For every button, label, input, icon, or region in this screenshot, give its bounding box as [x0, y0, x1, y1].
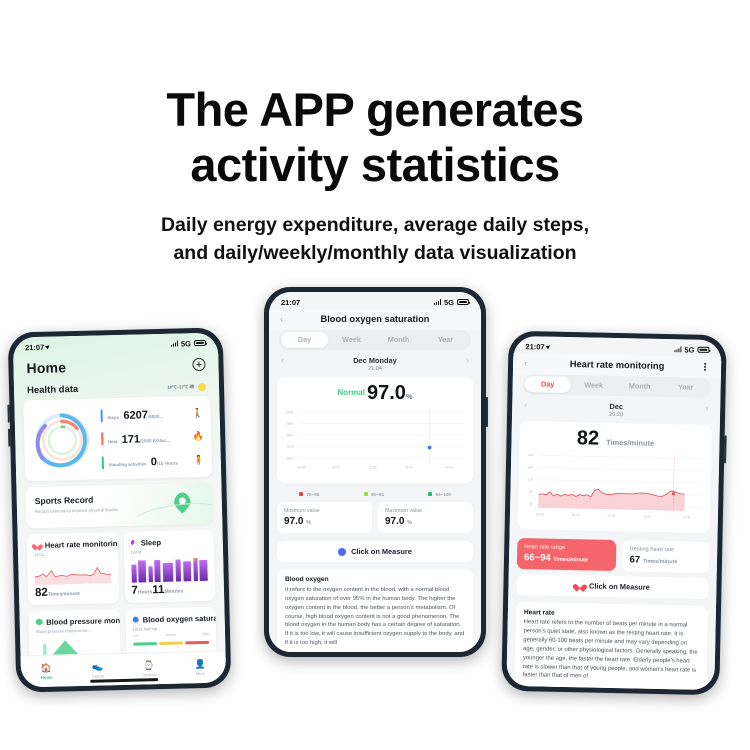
shoe-icon: 👟 [72, 661, 123, 672]
next-day-icon[interactable]: › [466, 356, 469, 365]
metric-value: 171/2000 KGlac... [122, 432, 171, 445]
card-value: 97.0 % [385, 516, 466, 527]
metric-label: Steps [107, 415, 119, 420]
card-label: Resting heart rate [630, 546, 703, 554]
svg-text:12:00: 12:00 [607, 513, 615, 517]
svg-text:200: 200 [528, 453, 534, 457]
svg-text:120: 120 [528, 477, 534, 481]
status-time: 21:07 [25, 342, 44, 351]
metric-accent-bar [101, 409, 103, 422]
maximum-value-card: Maximum value 97.0 % [378, 502, 473, 534]
card-value: 82Times/minute [35, 585, 112, 599]
phone-mid-blood-oxygen: 21:07 5G ‹ Blood oxygen saturation Day W… [264, 287, 486, 657]
spo2-unit: % [406, 392, 413, 401]
tab-month[interactable]: Month [616, 378, 662, 395]
headline-line-1: The APP generates [166, 83, 583, 136]
chevron-left-icon[interactable]: ‹ [280, 314, 290, 324]
battery-icon [697, 347, 709, 353]
svg-text:06:00: 06:00 [572, 513, 580, 517]
legend-item: 70~90 [299, 492, 319, 497]
svg-text:98%: 98% [287, 433, 294, 437]
card-title: Blood pressure monitoring [46, 615, 120, 626]
health-summary-card[interactable]: Steps 6207/6000... 🚶 Heat 171/2000 KGlac… [23, 396, 212, 482]
sun-icon [198, 382, 206, 390]
kebab-menu-icon[interactable] [700, 363, 710, 371]
home-title: Home [26, 359, 66, 376]
card-subtitle: Blood pressure measureme... [36, 627, 113, 634]
tab-mine[interactable]: 👤 Mine [174, 659, 226, 677]
sleep-bar-chart [131, 556, 208, 582]
sports-record-card[interactable]: Sports Record Record exercise to improve… [25, 483, 213, 528]
card-value: 97.0 % [284, 516, 365, 527]
moon-icon [130, 539, 137, 546]
circle-icon [36, 619, 43, 626]
svg-text:99%: 99% [287, 422, 294, 426]
stand-icon: 🧍 [193, 454, 205, 465]
tab-devices[interactable]: ⌚ Devices [123, 660, 175, 678]
metric-value: 0/10 Hours [151, 456, 178, 469]
heart-icon [34, 542, 41, 549]
metric-value: 6207/6000... [123, 409, 163, 422]
heart-rate-chart: 200 160 120 80 40 00:00 06:00 12:00 18:0… [525, 448, 704, 522]
heart-icon [575, 581, 584, 589]
subtitle-line-1: Daily energy expenditure, average daily … [0, 211, 750, 239]
next-day-icon[interactable]: › [705, 404, 708, 413]
metrics-list: Steps 6207/6000... 🚶 Heat 171/2000 KGlac… [100, 404, 205, 471]
info-body: Heart rate refers to the number of beats… [522, 618, 699, 684]
svg-text:100%: 100% [285, 410, 293, 414]
circle-icon [132, 616, 139, 623]
signal-icon [434, 299, 441, 305]
tab-label: Mine [175, 670, 226, 676]
network-label: 5G [444, 298, 454, 307]
measure-icon [338, 548, 346, 556]
prev-day-icon[interactable]: ‹ [281, 356, 284, 365]
card-title: Blood oxygen saturation [143, 613, 217, 624]
walk-icon: 🚶 [192, 407, 204, 418]
spo2-chart-panel: Normal97.0% 100% 99% 98% 97% 96% [277, 377, 473, 483]
resting-heart-rate-card: Resting heart rate 67 Times/minute [622, 540, 709, 573]
svg-text:24:00: 24:00 [445, 465, 453, 469]
weather-text: 18℃~27℃ 晴 [167, 384, 194, 391]
legend-high: High [202, 631, 209, 635]
svg-text:96%: 96% [287, 456, 294, 460]
legend-label: 70~90 [306, 492, 319, 497]
signal-icon [171, 341, 178, 347]
fire-icon: 🔥 [192, 431, 204, 442]
spo2-value: 97.0 [367, 382, 406, 404]
page-title: The APP generates activity statistics [0, 82, 750, 193]
svg-text:00:00: 00:00 [536, 512, 544, 516]
nav-bar: ‹ Blood oxygen saturation [269, 309, 481, 330]
measure-button-label: Click on Measure [351, 547, 412, 556]
weather-widget: 18℃~27℃ 晴 [167, 382, 206, 391]
metric-row: Steps 6207/6000... 🚶 [100, 404, 203, 425]
power-button[interactable] [724, 435, 727, 463]
tab-week[interactable]: Week [328, 332, 375, 348]
tab-week[interactable]: Week [571, 377, 617, 394]
nav-title: Heart rate monitoring [534, 358, 700, 371]
svg-text:160: 160 [528, 465, 534, 469]
headline-line-2: activity statistics [190, 138, 559, 191]
measure-button-label: Click on Measure [589, 581, 650, 591]
card-value: 67 Times/minute [629, 554, 702, 567]
blood-oxygen-detail-screen: 21:07 5G ‹ Blood oxygen saturation Day W… [269, 292, 481, 652]
status-bar: 21:07 5G [269, 292, 481, 309]
period-segmented-control[interactable]: Day Week Month Year [279, 330, 471, 350]
headline-subtitle: Daily energy expenditure, average daily … [0, 211, 750, 268]
tab-year[interactable]: Year [662, 379, 708, 396]
metric-accent-bar [101, 432, 103, 445]
person-icon: 👤 [174, 659, 225, 670]
nav-title: Blood oxygen saturation [290, 314, 460, 324]
card-date: 12/11 [34, 550, 111, 557]
svg-text:40: 40 [529, 502, 533, 506]
legend-item: 94~100 [428, 492, 451, 497]
heart-rate-value: 82 [577, 427, 600, 449]
metric-row: Standing activities 0/10 Hours 🧍 [102, 451, 205, 472]
spo2-legend: 70~90 90~94 94~100 [269, 487, 481, 499]
legend-normal: Normal [165, 632, 175, 636]
card-title: Heart rate monitoring [45, 538, 119, 549]
location-arrow-icon [546, 344, 552, 350]
signal-icon [674, 346, 681, 352]
tab-sports[interactable]: 👟 Sports [72, 661, 124, 679]
network-label: 5G [684, 345, 694, 354]
tab-label: Devices [123, 671, 174, 677]
mini-cards-grid: Heart rate monitoring 12/11 82Times/minu… [27, 529, 217, 664]
minimum-value-card: Minimum value 97.0 % [277, 502, 372, 534]
svg-text:80: 80 [529, 489, 533, 493]
headline-block: The APP generates activity statistics Da… [0, 82, 750, 267]
tab-label: Home [21, 674, 72, 680]
phone-right-heart-rate: 21:07 5G ‹ Heart rate monitoring Day Wee… [501, 331, 726, 695]
prev-day-icon[interactable]: ‹ [524, 400, 527, 409]
battery-icon [457, 299, 469, 305]
spo2-range-legend: Low Normal High [133, 631, 210, 637]
phone-left-home: 21:07 5G Home Health data 18℃~27℃ 晴 [8, 327, 232, 692]
heart-rate-info-panel: Heart rate Heart rate refers to the numb… [514, 602, 708, 690]
health-data-title: Health data [27, 384, 78, 396]
activity-rings-chart [31, 408, 94, 471]
heart-rate-stat-cards: Heart rate range 66~94 Times/minute Rest… [517, 538, 710, 573]
info-heading: Blood oxygen [285, 576, 465, 583]
date-navigator: ‹ Dec Monday › [269, 350, 481, 366]
status-badge: Normal [337, 388, 365, 397]
svg-text:00:00: 00:00 [297, 465, 305, 469]
card-label: Maximum value [385, 508, 466, 515]
heart-rate-range-card: Heart rate range 66~94 Times/minute [517, 538, 617, 571]
tab-home[interactable]: 🏠 Home [21, 662, 73, 680]
card-value: 66~94 Times/minute [524, 552, 610, 565]
svg-text:24:00: 24:00 [682, 515, 690, 519]
heart-rate-chart-panel: 82Times/minute 200 160 120 80 40 [518, 421, 712, 533]
svg-text:18:00: 18:00 [643, 514, 651, 518]
spo2-chart: 100% 99% 98% 97% 96% 00:00 06:00 12:00 1… [284, 404, 466, 472]
measure-button[interactable]: Click on Measure [277, 541, 473, 562]
card-heart-rate[interactable]: Heart rate monitoring 12/11 82Times/minu… [27, 532, 119, 605]
tab-year[interactable]: Year [422, 332, 469, 348]
heart-rate-detail-screen: 21:07 5G ‹ Heart rate monitoring Day Wee… [506, 336, 721, 690]
heart-rate-sparkline [34, 559, 111, 585]
svg-text:97%: 97% [287, 445, 294, 449]
card-subtitle: 12/11 Normal [132, 624, 209, 631]
watch-icon: ⌚ [123, 660, 174, 671]
min-max-cards: Minimum value 97.0 % Maximum value 97.0 … [277, 502, 473, 534]
legend-label: 94~100 [435, 492, 450, 497]
power-button[interactable] [486, 397, 488, 427]
home-scroll[interactable]: 21:07 5G Home Health data 18℃~27℃ 晴 [13, 333, 226, 688]
legend-item: 90~94 [364, 492, 384, 497]
metric-row: Heat 171/2000 KGlac... 🔥 [101, 427, 204, 448]
legend-swatch-green [428, 492, 432, 496]
card-sleep[interactable]: Sleep 12/09 [123, 529, 215, 602]
date-label: Dec Monday [353, 356, 397, 365]
heart-rate-unit: Times/minute [606, 438, 654, 448]
spo2-big-value: Normal97.0% [284, 383, 466, 404]
legend-low: Low [133, 633, 139, 637]
chevron-left-icon[interactable]: ‹ [524, 358, 534, 368]
measure-button[interactable]: Click on Measure [516, 574, 708, 599]
blood-oxygen-info-panel: Blood oxygen It refers to the oxygen con… [277, 569, 473, 652]
legend-label: 90~94 [371, 492, 384, 497]
phone-mid-screen: 21:07 5G ‹ Blood oxygen saturation Day W… [269, 292, 481, 652]
metric-label: Heat [108, 439, 117, 444]
svg-text:12:00: 12:00 [368, 465, 376, 469]
battery-icon [194, 340, 206, 346]
tab-month[interactable]: Month [375, 332, 422, 348]
card-label: Heart rate range [524, 544, 610, 552]
card-title: Sleep [141, 537, 161, 546]
tab-day[interactable]: Day [281, 332, 328, 348]
svg-text:06:00: 06:00 [332, 465, 340, 469]
date-label: Dec [609, 402, 623, 411]
info-body: It refers to the oxygen content in the b… [285, 586, 465, 648]
plus-circle-icon[interactable] [192, 357, 205, 370]
volume-button[interactable] [7, 405, 9, 423]
tab-day[interactable]: Day [525, 376, 571, 393]
network-label: 5G [181, 339, 191, 348]
status-time: 21:07 [281, 298, 300, 307]
card-label: Minimum value [284, 508, 365, 515]
legend-swatch-yellow [364, 492, 368, 496]
card-date: 12/09 [130, 547, 207, 554]
svg-text:18:00: 18:00 [405, 465, 413, 469]
subtitle-line-2: and daily/weekly/monthly data visualizat… [0, 239, 750, 267]
phone-right-screen: 21:07 5G ‹ Heart rate monitoring Day Wee… [506, 336, 721, 690]
card-value: 7Hours11Minutes [131, 582, 208, 596]
legend-swatch-red [299, 492, 303, 496]
reading-timestamp: 21:04 [269, 366, 481, 372]
phone-left-screen: 21:07 5G Home Health data 18℃~27℃ 晴 [13, 333, 226, 688]
volume-down-button[interactable] [8, 429, 10, 447]
status-time: 21:07 [525, 342, 544, 351]
metric-label: Standing activities [108, 461, 146, 467]
bottom-tab-bar: 🏠 Home 👟 Sports ⌚ Devices 👤 Mine [21, 650, 227, 687]
location-arrow-icon [45, 344, 51, 350]
spo2-range-bar [133, 640, 210, 645]
home-icon: 🏠 [21, 662, 72, 673]
metric-accent-bar [102, 456, 104, 469]
